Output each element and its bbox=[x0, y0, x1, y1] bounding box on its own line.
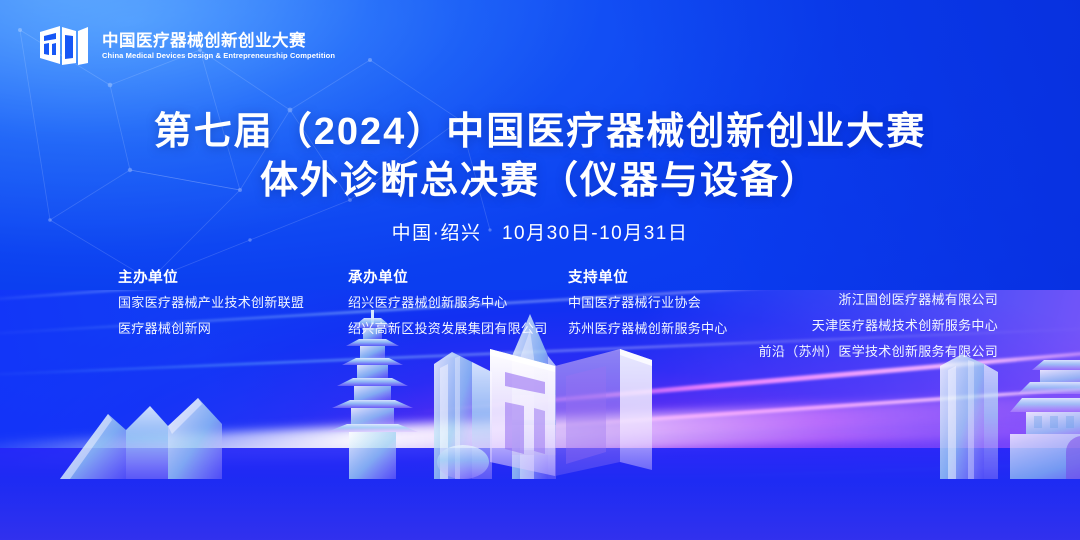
sail-buildings-icon bbox=[60, 398, 222, 479]
title-line-1: 第七届（2024）中国医疗器械创新创业大赛 bbox=[0, 108, 1080, 157]
tower-right-icon bbox=[940, 354, 998, 479]
organizer-item: 绍兴高新区投资发展集团有限公司 bbox=[348, 322, 568, 335]
logo-english-name: China Medical Devices Design & Entrepren… bbox=[102, 52, 335, 60]
logo-chinese-name: 中国医疗器械创新创业大赛 bbox=[102, 32, 331, 50]
organizer-item: 前沿（苏州）医学技术创新服务有限公司 bbox=[738, 345, 998, 358]
organizer-heading: 支持单位 bbox=[568, 266, 738, 287]
organizer-column-supporter-extra: 浙江国创医疗器械有限公司 天津医疗器械技术创新服务中心 前沿（苏州）医学技术创新… bbox=[738, 266, 998, 371]
main-title: 第七届（2024）中国医疗器械创新创业大赛 体外诊断总决赛（仪器与设备） bbox=[0, 108, 1080, 205]
poster-canvas: 中国医疗器械创新创业大赛 China Medical Devices Desig… bbox=[0, 0, 1080, 540]
header-logo[interactable]: 中国医疗器械创新创业大赛 China Medical Devices Desig… bbox=[38, 24, 331, 68]
organizer-heading: 主办单位 bbox=[118, 266, 348, 287]
organizer-column-supporter: 支持单位 中国医疗器械行业协会 苏州医疗器械创新服务中心 bbox=[568, 266, 738, 371]
organizer-column-organizer: 承办单位 绍兴医疗器械创新服务中心 绍兴高新区投资发展集团有限公司 bbox=[348, 266, 568, 371]
organizer-item: 医疗器械创新网 bbox=[118, 322, 348, 335]
organizer-columns: 主办单位 国家医疗器械产业技术创新联盟 医疗器械创新网 承办单位 绍兴医疗器械创… bbox=[118, 266, 998, 371]
organizer-item: 天津医疗器械技术创新服务中心 bbox=[738, 319, 998, 332]
organizer-item: 苏州医疗器械创新服务中心 bbox=[568, 322, 738, 335]
gate-tower-icon bbox=[1010, 360, 1080, 479]
organizer-item: 浙江国创医疗器械有限公司 bbox=[738, 293, 998, 306]
foreground-floor-shade bbox=[0, 482, 1080, 540]
organizer-item: 中国医疗器械行业协会 bbox=[568, 296, 738, 309]
open-book-logo-icon bbox=[38, 24, 90, 68]
organizer-item: 国家医疗器械产业技术创新联盟 bbox=[118, 296, 348, 309]
organizer-heading: 承办单位 bbox=[348, 266, 568, 287]
title-line-2: 体外诊断总决赛（仪器与设备） bbox=[0, 157, 1080, 206]
event-location-date: 中国·绍兴 10月30日-10月31日 bbox=[0, 218, 1080, 245]
organizer-column-host: 主办单位 国家医疗器械产业技术创新联盟 医疗器械创新网 bbox=[118, 266, 348, 371]
tower-tall-icon bbox=[434, 352, 492, 479]
organizer-item: 绍兴医疗器械创新服务中心 bbox=[348, 296, 568, 309]
